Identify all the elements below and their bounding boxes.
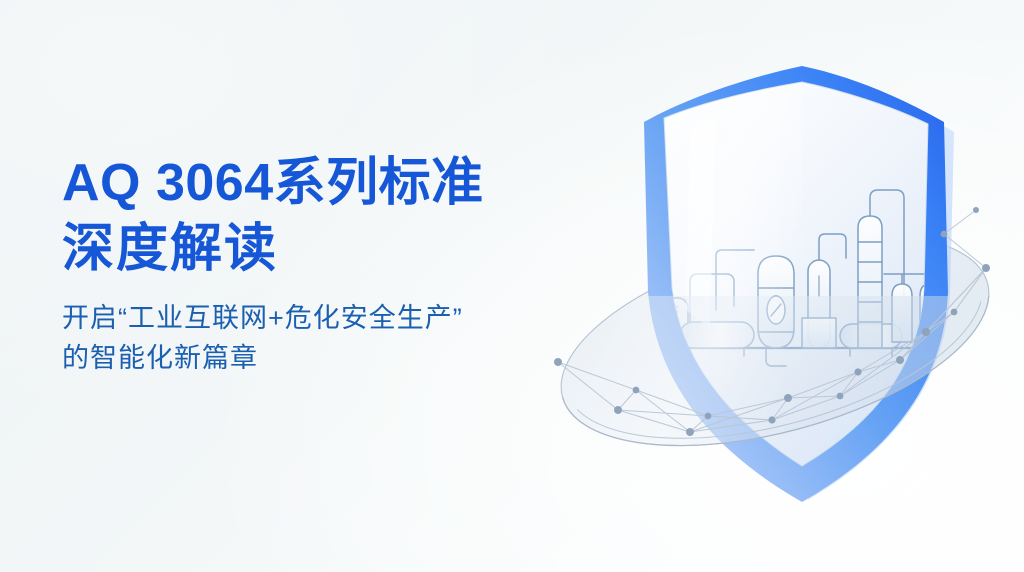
page-title-line-2: 深度解读 [62, 216, 602, 282]
subtitle-line-2: 的智能化新篇章 [62, 338, 602, 378]
headline-text-block: AQ 3064系列标准 深度解读 开启“工业互联网+危化安全生产” 的智能化新篇… [62, 150, 602, 378]
shield-graphic [540, 60, 1010, 510]
subtitle-line-1: 开启“工业互联网+危化安全生产” [62, 298, 602, 338]
poster-canvas: AQ 3064系列标准 深度解读 开启“工业互联网+危化安全生产” 的智能化新篇… [0, 0, 1024, 572]
subtitle-block: 开启“工业互联网+危化安全生产” 的智能化新篇章 [62, 298, 602, 378]
page-title-line-1: AQ 3064系列标准 [62, 150, 602, 216]
